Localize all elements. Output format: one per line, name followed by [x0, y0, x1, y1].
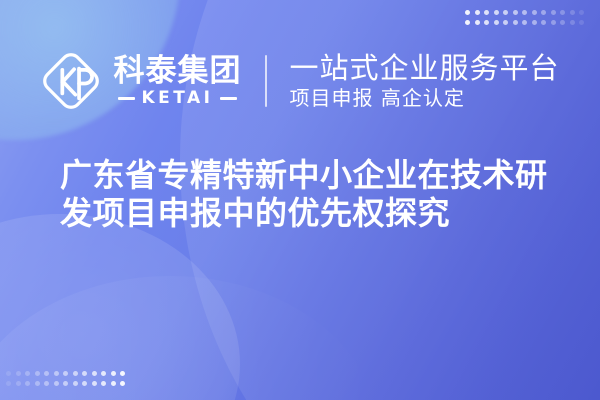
dot: [541, 20, 546, 25]
brand-wordmark: 科泰集团 KETAI: [113, 55, 241, 108]
dot: [475, 10, 480, 15]
dot: [44, 381, 49, 386]
dot: [532, 10, 537, 15]
dot: [92, 381, 97, 386]
dot: [101, 371, 106, 376]
dot: [54, 371, 59, 376]
dot: [522, 10, 527, 15]
dot-row: [465, 20, 584, 25]
title-line-1: 广东省专精特新中小企业在技术研: [60, 156, 560, 194]
banner-title: 广东省专精特新中小企业在技术研 发项目申报中的优先权探究: [60, 156, 560, 232]
dot: [82, 371, 87, 376]
dot: [111, 381, 116, 386]
dot: [73, 381, 78, 386]
dot: [484, 20, 489, 25]
dot: [503, 10, 508, 15]
dot: [16, 381, 21, 386]
dot: [465, 10, 470, 15]
banner-header: 科泰集团 KETAI 一站式企业服务平台 项目申报 高企认定: [0, 40, 600, 122]
dot: [101, 381, 106, 386]
brand-rule-left: [118, 97, 135, 100]
dot-row: [6, 381, 125, 386]
dot: [541, 10, 546, 15]
dot: [25, 371, 30, 376]
dot: [503, 20, 508, 25]
dot: [494, 10, 499, 15]
dot: [35, 371, 40, 376]
title-line-2: 发项目申报中的优先权探究: [60, 194, 560, 232]
dot: [513, 10, 518, 15]
dot: [73, 371, 78, 376]
tagline-block: 一站式企业服务平台 项目申报 高企认定: [289, 52, 559, 110]
promo-banner: 科泰集团 KETAI 一站式企业服务平台 项目申报 高企认定 广东省专精特新中小…: [0, 0, 600, 400]
dot-grid-bottom-left: [6, 371, 125, 386]
brand-name-cn: 科泰集团: [113, 55, 241, 88]
dot-row: [6, 371, 125, 376]
dot-grid-top-right: [465, 10, 584, 25]
dot: [570, 10, 575, 15]
dot: [120, 381, 125, 386]
brand-rule-right: [220, 97, 237, 100]
dot: [111, 371, 116, 376]
dot: [513, 20, 518, 25]
dot: [44, 371, 49, 376]
dot: [560, 20, 565, 25]
dot: [551, 20, 556, 25]
dot: [494, 20, 499, 25]
dot: [532, 20, 537, 25]
dot: [522, 20, 527, 25]
brand-en-row: KETAI: [113, 90, 241, 107]
dot: [63, 381, 68, 386]
right-arc-edge-shape: [392, 108, 600, 400]
brand-lockup[interactable]: 科泰集团 KETAI: [40, 50, 241, 112]
brand-name-en: KETAI: [141, 90, 213, 107]
dot: [92, 371, 97, 376]
dot: [16, 371, 21, 376]
dot-row: [465, 10, 584, 15]
dot: [6, 381, 11, 386]
dot: [551, 10, 556, 15]
dot: [579, 10, 584, 15]
dot: [63, 371, 68, 376]
dot: [54, 381, 59, 386]
dot: [570, 20, 575, 25]
dot: [579, 20, 584, 25]
dot: [484, 10, 489, 15]
dot: [6, 371, 11, 376]
dot: [475, 20, 480, 25]
dot: [465, 20, 470, 25]
tagline-main: 一站式企业服务平台: [289, 52, 559, 84]
dot: [35, 381, 40, 386]
dot: [560, 10, 565, 15]
tagline-sub: 项目申报 高企认定: [289, 86, 559, 110]
header-divider: [265, 55, 267, 107]
dot: [25, 381, 30, 386]
dot: [120, 371, 125, 376]
ketai-diamond-kp-logo-icon: [40, 50, 102, 112]
dot: [82, 381, 87, 386]
